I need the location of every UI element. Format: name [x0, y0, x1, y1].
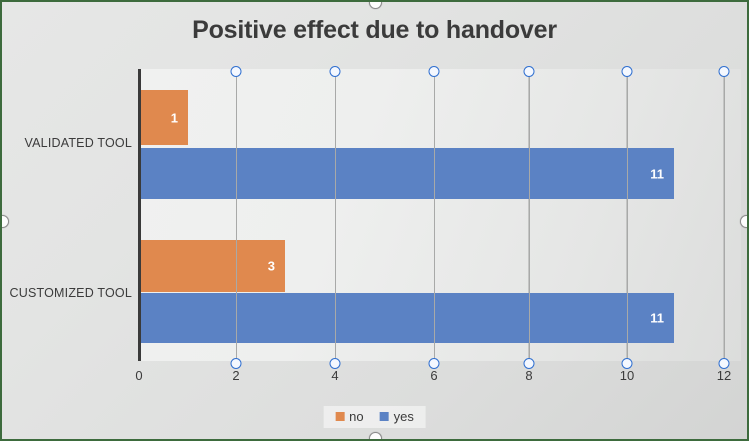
xtick-8: 8 — [525, 368, 532, 383]
xtick-0: 0 — [135, 368, 142, 383]
bar-label-customized-yes: 11 — [650, 311, 664, 326]
gridline-stem-6-top — [434, 74, 435, 362]
slide-handle-bottom[interactable] — [369, 432, 382, 441]
legend-label-yes: yes — [394, 409, 414, 424]
gridline-dot-4-bottom[interactable] — [330, 358, 341, 369]
gridline-dot-10-top[interactable] — [622, 66, 633, 77]
chart-title: Positive effect due to handover — [2, 16, 747, 45]
gridline-stem-4-top — [335, 74, 336, 362]
gridline-dot-4-top[interactable] — [330, 66, 341, 77]
plot-area[interactable]: 1 11 3 11 — [139, 69, 741, 361]
slide-handle-right[interactable] — [740, 215, 749, 228]
gridline-dot-2-bottom[interactable] — [231, 358, 242, 369]
bar-validated-no[interactable]: 1 — [139, 90, 188, 145]
xtick-2: 2 — [232, 368, 239, 383]
xtick-12: 12 — [717, 368, 731, 383]
gridline-dot-8-top[interactable] — [524, 66, 535, 77]
gridline-dot-10-bottom[interactable] — [622, 358, 633, 369]
legend-swatch-yes-icon — [380, 412, 389, 421]
gridline-stem-10-top — [627, 74, 628, 362]
slide-handle-left[interactable] — [0, 215, 9, 228]
xtick-4: 4 — [331, 368, 338, 383]
slide-handle-top[interactable] — [369, 0, 382, 9]
gridline-dot-8-bottom[interactable] — [524, 358, 535, 369]
legend-label-no: no — [349, 409, 363, 424]
value-axis-line — [138, 69, 141, 361]
bar-customized-no[interactable]: 3 — [139, 240, 285, 292]
bar-label-validated-no: 1 — [171, 110, 178, 125]
legend-item-no[interactable]: no — [335, 409, 363, 424]
bar-label-validated-yes: 11 — [650, 166, 664, 181]
legend-swatch-no-icon — [335, 412, 344, 421]
gridline-stem-2-top — [236, 74, 237, 362]
gridline-dot-12-top[interactable] — [719, 66, 730, 77]
bar-label-customized-no: 3 — [268, 259, 275, 274]
bar-customized-yes[interactable]: 11 — [139, 293, 674, 343]
category-label-validated: VALIDATED TOOL — [2, 136, 132, 150]
slide-canvas[interactable]: Positive effect due to handover 1 11 3 1… — [0, 0, 749, 441]
gridline-dot-6-top[interactable] — [429, 66, 440, 77]
gridline-dot-12-bottom[interactable] — [719, 358, 730, 369]
legend-item-yes[interactable]: yes — [380, 409, 414, 424]
gridline-stem-8-top — [529, 74, 530, 362]
xtick-6: 6 — [430, 368, 437, 383]
gridline-dot-6-bottom[interactable] — [429, 358, 440, 369]
xtick-10: 10 — [620, 368, 634, 383]
gridline-stem-12-top — [724, 74, 725, 362]
bar-validated-yes[interactable]: 11 — [139, 148, 674, 199]
category-label-customized: CUSTOMIZED TOOL — [2, 286, 132, 300]
chart-legend[interactable]: no yes — [323, 406, 426, 428]
gridline-dot-2-top[interactable] — [231, 66, 242, 77]
